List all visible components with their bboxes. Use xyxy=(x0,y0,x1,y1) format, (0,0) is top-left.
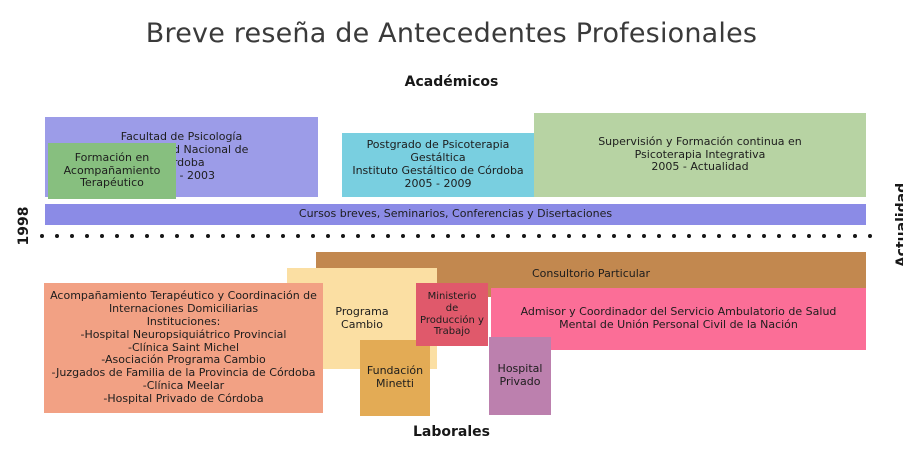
timeline-dot xyxy=(326,234,330,238)
academic-block-postgrado-text: Postgrado de Psicoterapia Gestáltica Ins… xyxy=(346,139,530,191)
timeline-dot xyxy=(401,234,405,238)
academic-block-formacion[interactable]: Formación en Acompañamiento Terapéutico xyxy=(48,143,176,199)
work-block-admisor-coordinador-text: Admisor y Coordinador del Servicio Ambul… xyxy=(495,306,862,332)
section-label-academicos: Académicos xyxy=(0,74,903,90)
timeline-dot xyxy=(537,234,541,238)
timeline-dot xyxy=(221,234,225,238)
timeline-dot xyxy=(672,234,676,238)
timeline-dot xyxy=(702,234,706,238)
timeline-dot xyxy=(853,234,857,238)
timeline-dot xyxy=(792,234,796,238)
timeline-dot xyxy=(732,234,736,238)
academic-block-supervision[interactable]: Supervisión y Formación continua en Psic… xyxy=(534,113,866,197)
work-block-acompanamiento-terapeutico-text: Acompañamiento Terapéutico y Coordinació… xyxy=(48,290,319,407)
timeline-dot xyxy=(236,234,240,238)
timeline-dot xyxy=(717,234,721,238)
work-block-ministerio-produccion-text: Ministerio de Producción y Trabajo xyxy=(420,291,484,338)
timeline-dot xyxy=(446,234,450,238)
timeline-dot xyxy=(70,234,74,238)
timeline-dot xyxy=(687,234,691,238)
work-block-acompanamiento-terapeutico[interactable]: Acompañamiento Terapéutico y Coordinació… xyxy=(44,283,323,413)
timeline-dot xyxy=(85,234,89,238)
academic-block-cursos-breves-text: Cursos breves, Seminarios, Conferencias … xyxy=(49,208,862,221)
timeline-dot xyxy=(552,234,556,238)
timeline-dot xyxy=(461,234,465,238)
timeline-dot xyxy=(762,234,766,238)
work-block-hospital-privado-text: Hospital Privado xyxy=(493,363,547,389)
timeline-dot xyxy=(371,234,375,238)
timeline-dot xyxy=(386,234,390,238)
timeline-dot xyxy=(642,234,646,238)
timeline-dot xyxy=(822,234,826,238)
timeline-dot xyxy=(491,234,495,238)
timeline-dotted-axis xyxy=(40,232,872,240)
work-block-hospital-privado[interactable]: Hospital Privado xyxy=(489,337,551,415)
section-label-laborales: Laborales xyxy=(0,424,903,440)
timeline-dot xyxy=(868,234,872,238)
timeline-dot xyxy=(476,234,480,238)
timeline-dot xyxy=(582,234,586,238)
academic-block-supervision-text: Supervisión y Formación continua en Psic… xyxy=(538,136,862,175)
work-block-ministerio-produccion[interactable]: Ministerio de Producción y Trabajo xyxy=(416,283,488,346)
timeline-end-label: Actualidad xyxy=(882,175,903,275)
timeline-dot xyxy=(100,234,104,238)
timeline-dot xyxy=(416,234,420,238)
timeline-dot xyxy=(657,234,661,238)
timeline-dot xyxy=(837,234,841,238)
timeline-dot xyxy=(747,234,751,238)
timeline-dot xyxy=(777,234,781,238)
timeline-dot xyxy=(522,234,526,238)
timeline-dot xyxy=(40,234,44,238)
timeline-dot xyxy=(115,234,119,238)
timeline-dot xyxy=(311,234,315,238)
academic-block-postgrado[interactable]: Postgrado de Psicoterapia Gestáltica Ins… xyxy=(342,133,534,197)
timeline-dot xyxy=(160,234,164,238)
timeline-dot xyxy=(266,234,270,238)
timeline-dot xyxy=(506,234,510,238)
page-title: Breve reseña de Antecedentes Profesional… xyxy=(0,18,903,49)
timeline-dot xyxy=(627,234,631,238)
timeline-dot xyxy=(296,234,300,238)
work-block-fundacion-minetti[interactable]: Fundación Minetti xyxy=(360,340,430,416)
timeline-dot xyxy=(130,234,134,238)
timeline-dot xyxy=(190,234,194,238)
timeline-dot xyxy=(431,234,435,238)
work-block-fundacion-minetti-text: Fundación Minetti xyxy=(364,365,426,391)
timeline-dot xyxy=(341,234,345,238)
timeline-dot xyxy=(597,234,601,238)
timeline-dot xyxy=(55,234,59,238)
timeline-dot xyxy=(612,234,616,238)
timeline-dot xyxy=(175,234,179,238)
timeline-dot xyxy=(281,234,285,238)
timeline-dot xyxy=(251,234,255,238)
timeline-dot xyxy=(356,234,360,238)
academic-block-formacion-text: Formación en Acompañamiento Terapéutico xyxy=(52,152,172,191)
infographic-canvas: Breve reseña de Antecedentes Profesional… xyxy=(0,0,903,471)
timeline-dot xyxy=(567,234,571,238)
academic-block-cursos-breves[interactable]: Cursos breves, Seminarios, Conferencias … xyxy=(45,204,866,225)
timeline-dot xyxy=(206,234,210,238)
timeline-dot xyxy=(145,234,149,238)
timeline-dot xyxy=(807,234,811,238)
